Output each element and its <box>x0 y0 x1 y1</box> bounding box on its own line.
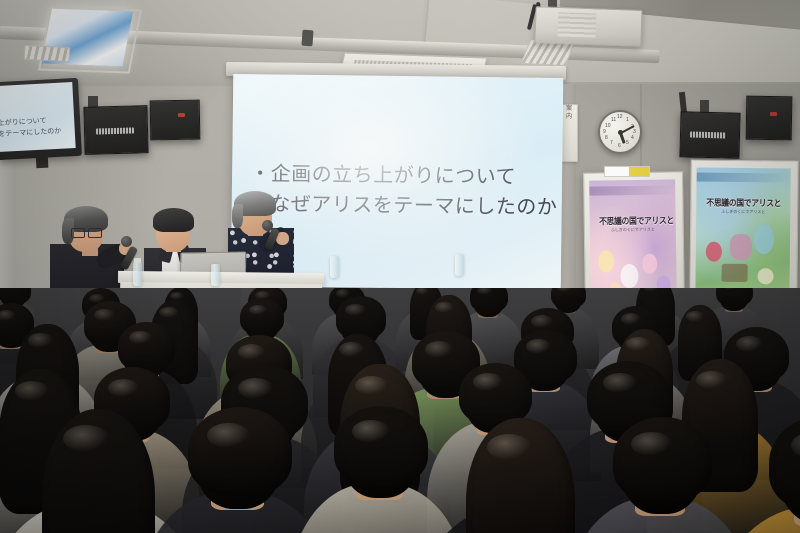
poster-figure <box>598 250 614 272</box>
poster-band <box>697 173 791 183</box>
spotlight-icon <box>301 30 313 47</box>
audience-member-hair-highlight <box>238 378 274 399</box>
poster-subtitle: ふしぎのくにでアリスと <box>594 226 672 233</box>
poster-figure <box>642 254 657 274</box>
poster-figure <box>754 224 774 254</box>
clock-mark: 5 <box>626 140 629 146</box>
audience-member-hair-highlight <box>473 373 503 390</box>
audience-member-hair <box>716 288 752 306</box>
audience-member-hair <box>118 322 175 370</box>
audience-member-hair-highlight <box>686 311 704 321</box>
poster-alice-green: 不思議の国でアリスと ふしぎのくにでアリスと <box>695 168 790 307</box>
audience-member-hair <box>336 296 387 339</box>
audience-member-hair-highlight <box>108 379 139 397</box>
clock-mark: 6 <box>618 143 621 149</box>
audience-member-hair <box>613 417 712 501</box>
audience-member-hair-highlight <box>603 373 637 393</box>
audience-member-hair <box>188 407 292 495</box>
poster-band <box>589 185 675 195</box>
clock-mark: 12 <box>617 114 623 120</box>
audience-member-torso <box>718 506 800 533</box>
poster-figure <box>620 264 638 288</box>
audience-member-hair <box>240 298 284 335</box>
audience-member-hair-highlight <box>355 376 388 395</box>
poster-subtitle: ふしぎのくにでアリスと <box>700 209 786 216</box>
speaker-led-icon <box>770 112 777 116</box>
audience-member-hair <box>0 288 31 304</box>
slide-bullet-1: ・企画の立ち上がりについて <box>250 158 555 192</box>
lecture-hall-photo: 案 内 12 1 2 3 4 5 6 7 8 9 10 11 不思議の国でアリス… <box>0 0 800 533</box>
poster-figure <box>706 242 722 262</box>
poster-title: 不思議の国でアリスと <box>599 214 666 228</box>
water-bottle <box>133 262 142 286</box>
water-bottle <box>330 256 339 278</box>
audience-member-hair-highlight <box>28 333 54 348</box>
audience-member-hair-highlight <box>352 420 391 443</box>
glasses-icon <box>71 228 85 238</box>
microphone-head-icon <box>121 236 132 247</box>
audience-member-hair-highlight <box>15 381 49 401</box>
poster-figure <box>722 264 748 282</box>
slide-bullet-2: ・なぜアリスをテーマにしたのか <box>250 188 555 222</box>
audience-member-hair-highlight <box>477 288 493 295</box>
wall-speaker-left <box>150 100 201 141</box>
wall-pillar-left <box>0 150 16 310</box>
projector-panel <box>558 12 597 37</box>
audience-member-hair <box>334 406 428 486</box>
poster-figure <box>730 234 752 260</box>
panelist-right-hair-side <box>232 204 243 228</box>
poster-title: 不思議の国でアリスと <box>706 196 780 210</box>
audience-member-hair-highlight <box>339 342 364 356</box>
glasses-icon <box>88 228 102 238</box>
audience-member <box>718 421 800 533</box>
glasses-bridge-icon <box>83 231 88 232</box>
clock-mark: 8 <box>605 135 608 141</box>
audience-member-hair-highlight <box>207 423 250 448</box>
clock-mark: 1 <box>626 117 629 123</box>
audience-area <box>0 288 800 533</box>
bose-logo-icon <box>690 132 726 139</box>
audience-member-hair-highlight <box>531 315 553 328</box>
skylight-frame <box>38 6 142 73</box>
wall-speaker-right <box>746 96 793 141</box>
audience-member-hair-highlight <box>626 337 649 351</box>
clock-mark: 7 <box>610 140 613 146</box>
slide-text-block: ・企画の立ち上がりについて ・なぜアリスをテーマにしたのか <box>250 158 556 222</box>
bose-logo-icon <box>96 128 134 135</box>
audience-member-hair-highlight <box>0 310 16 321</box>
audience-member-hair <box>459 363 531 424</box>
speaker-led-icon <box>178 113 185 117</box>
audience-member-hair-highlight <box>736 336 763 352</box>
confidence-monitor-text: 上がりについて をテーマにしたのか <box>0 114 83 140</box>
wall-clock: 12 1 2 3 4 5 6 7 8 9 10 11 <box>598 110 642 154</box>
audience-member-hair-highlight <box>621 313 641 325</box>
clock-center-pin <box>618 130 623 135</box>
clock-mark: 9 <box>603 129 606 135</box>
microphone-head-icon <box>262 220 273 231</box>
water-bottle <box>211 264 220 286</box>
audience-member-hair-highlight <box>249 305 267 315</box>
ceiling-vent-icon <box>24 45 71 62</box>
audience-member-hair-highlight <box>425 341 453 357</box>
audience-member-hair-highlight <box>170 292 184 300</box>
panelist-center-hair <box>153 208 194 232</box>
audience-member-hair-highlight <box>336 289 351 298</box>
water-bottle <box>455 254 464 276</box>
poster-figure <box>758 268 774 284</box>
audience-member-hair-highlight <box>696 371 727 389</box>
clock-mark: 10 <box>605 123 611 129</box>
audience-member-hair <box>769 415 800 511</box>
water-bottle-cap <box>134 258 141 263</box>
poster-label-tag <box>604 166 650 177</box>
banner-char-1: 案 <box>561 105 577 113</box>
audience-member-hair-highlight <box>159 307 179 319</box>
clock-mark: 4 <box>631 135 634 141</box>
clock-mark: 11 <box>611 117 616 123</box>
audience-member-hair-highlight <box>345 304 366 316</box>
banner-char-2: 内 <box>561 113 577 121</box>
audience-member-hair-highlight <box>435 302 454 313</box>
audience-member-hair-highlight <box>631 432 672 456</box>
